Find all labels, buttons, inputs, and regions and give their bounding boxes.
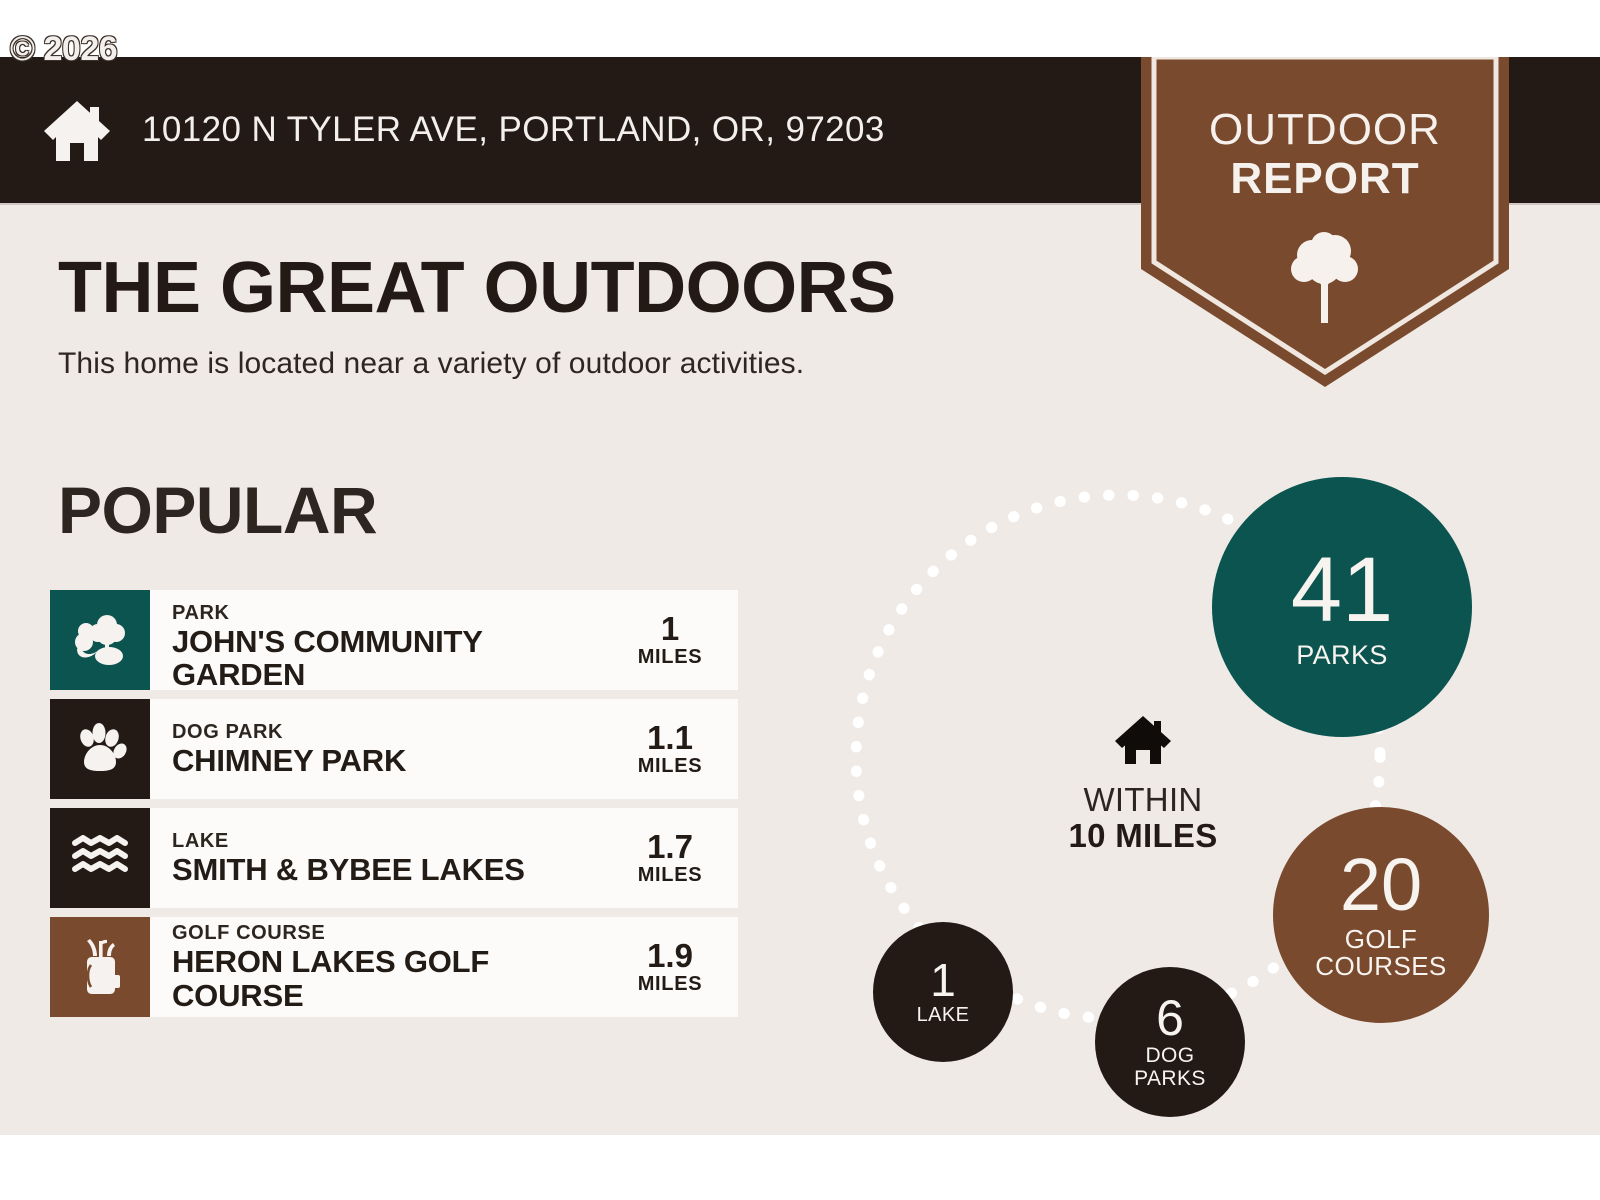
list-item[interactable]: LAKE SMITH & BYBEE LAKES 1.7 MILES [50, 808, 738, 908]
within-10-miles-diagram: 41 PARKS 20 GOLF COURSES 6 DOG PARKS 1 L… [810, 427, 1600, 1135]
list-item-name: JOHN'S COMMUNITY GARDEN [172, 625, 602, 690]
distance-value: 1.9 [647, 939, 693, 974]
center-line1: WITHIN [1028, 782, 1258, 818]
paw-print-icon [50, 699, 150, 799]
stat-bubble-dog-parks[interactable]: 6 DOG PARKS [1095, 967, 1245, 1117]
list-item-name: HERON LAKES GOLF COURSE [172, 945, 614, 1012]
list-item-category: DOG PARK [172, 721, 614, 744]
stat-count: 6 [1156, 994, 1184, 1043]
list-item[interactable]: GOLF COURSE HERON LAKES GOLF COURSE 1.9 … [50, 917, 738, 1017]
list-item-distance: 1 MILES [614, 590, 738, 690]
report-canvas: 10120 N TYLER AVE, PORTLAND, OR, 97203 O… [0, 57, 1600, 1135]
distance-unit: MILES [638, 973, 703, 995]
stat-bubble-parks[interactable]: 41 PARKS [1212, 477, 1472, 737]
distance-value: 1 [661, 612, 679, 647]
distance-unit: MILES [638, 755, 703, 777]
page-title: THE GREAT OUTDOORS [58, 252, 896, 324]
list-item-distance: 1.1 MILES [614, 699, 738, 799]
list-item-distance: 1.7 MILES [614, 808, 738, 908]
list-item-text: DOG PARK CHIMNEY PARK [150, 699, 614, 799]
list-item-name: SMITH & BYBEE LAKES [172, 853, 614, 886]
distance-unit: MILES [638, 646, 703, 668]
stat-count: 20 [1340, 849, 1422, 922]
list-item-text: LAKE SMITH & BYBEE LAKES [150, 808, 614, 908]
outdoor-report-badge: OUTDOOR REPORT [1141, 57, 1509, 387]
list-item-text: GOLF COURSE HERON LAKES GOLF COURSE [150, 917, 614, 1017]
list-item[interactable]: DOG PARK CHIMNEY PARK 1.1 MILES [50, 699, 738, 799]
list-item-category: LAKE [172, 830, 614, 853]
header-content: 10120 N TYLER AVE, PORTLAND, OR, 97203 [40, 57, 885, 203]
distance-value: 1.7 [647, 830, 693, 865]
stat-label: PARKS [1296, 641, 1388, 669]
list-item-category: GOLF COURSE [172, 922, 614, 945]
home-icon [40, 93, 114, 167]
diagram-center: WITHIN 10 MILES [1028, 712, 1258, 853]
popular-heading: POPULAR [58, 477, 377, 543]
page-subtitle: This home is located near a variety of o… [58, 347, 804, 381]
property-address: 10120 N TYLER AVE, PORTLAND, OR, 97203 [142, 110, 885, 150]
stat-bubble-lake[interactable]: 1 LAKE [873, 922, 1013, 1062]
list-item-category: PARK [172, 602, 614, 625]
golf-bag-icon [50, 917, 150, 1017]
list-item-distance: 1.9 MILES [614, 917, 738, 1017]
stat-label: DOG PARKS [1130, 1045, 1210, 1089]
home-icon [1112, 712, 1174, 768]
distance-unit: MILES [638, 864, 703, 886]
list-item[interactable]: PARK JOHN'S COMMUNITY GARDEN 1 MILES [50, 590, 738, 690]
stat-count: 1 [930, 958, 956, 1003]
list-item-name: CHIMNEY PARK [172, 744, 614, 777]
center-line2: 10 MILES [1028, 818, 1258, 854]
water-waves-icon [50, 808, 150, 908]
park-trees-icon [50, 590, 150, 690]
stat-bubble-golf-courses[interactable]: 20 GOLF COURSES [1273, 807, 1489, 1023]
popular-list: PARK JOHN'S COMMUNITY GARDEN 1 MILES [50, 590, 738, 1026]
stat-count: 41 [1291, 545, 1393, 635]
stat-label: LAKE [917, 1005, 970, 1026]
list-item-text: PARK JOHN'S COMMUNITY GARDEN [150, 590, 614, 690]
outdoor-report-page: 10120 N TYLER AVE, PORTLAND, OR, 97203 O… [0, 0, 1600, 1200]
copyright-watermark: © 2026 [10, 30, 117, 69]
distance-value: 1.1 [647, 721, 693, 756]
stat-label: GOLF COURSES [1306, 926, 1456, 981]
